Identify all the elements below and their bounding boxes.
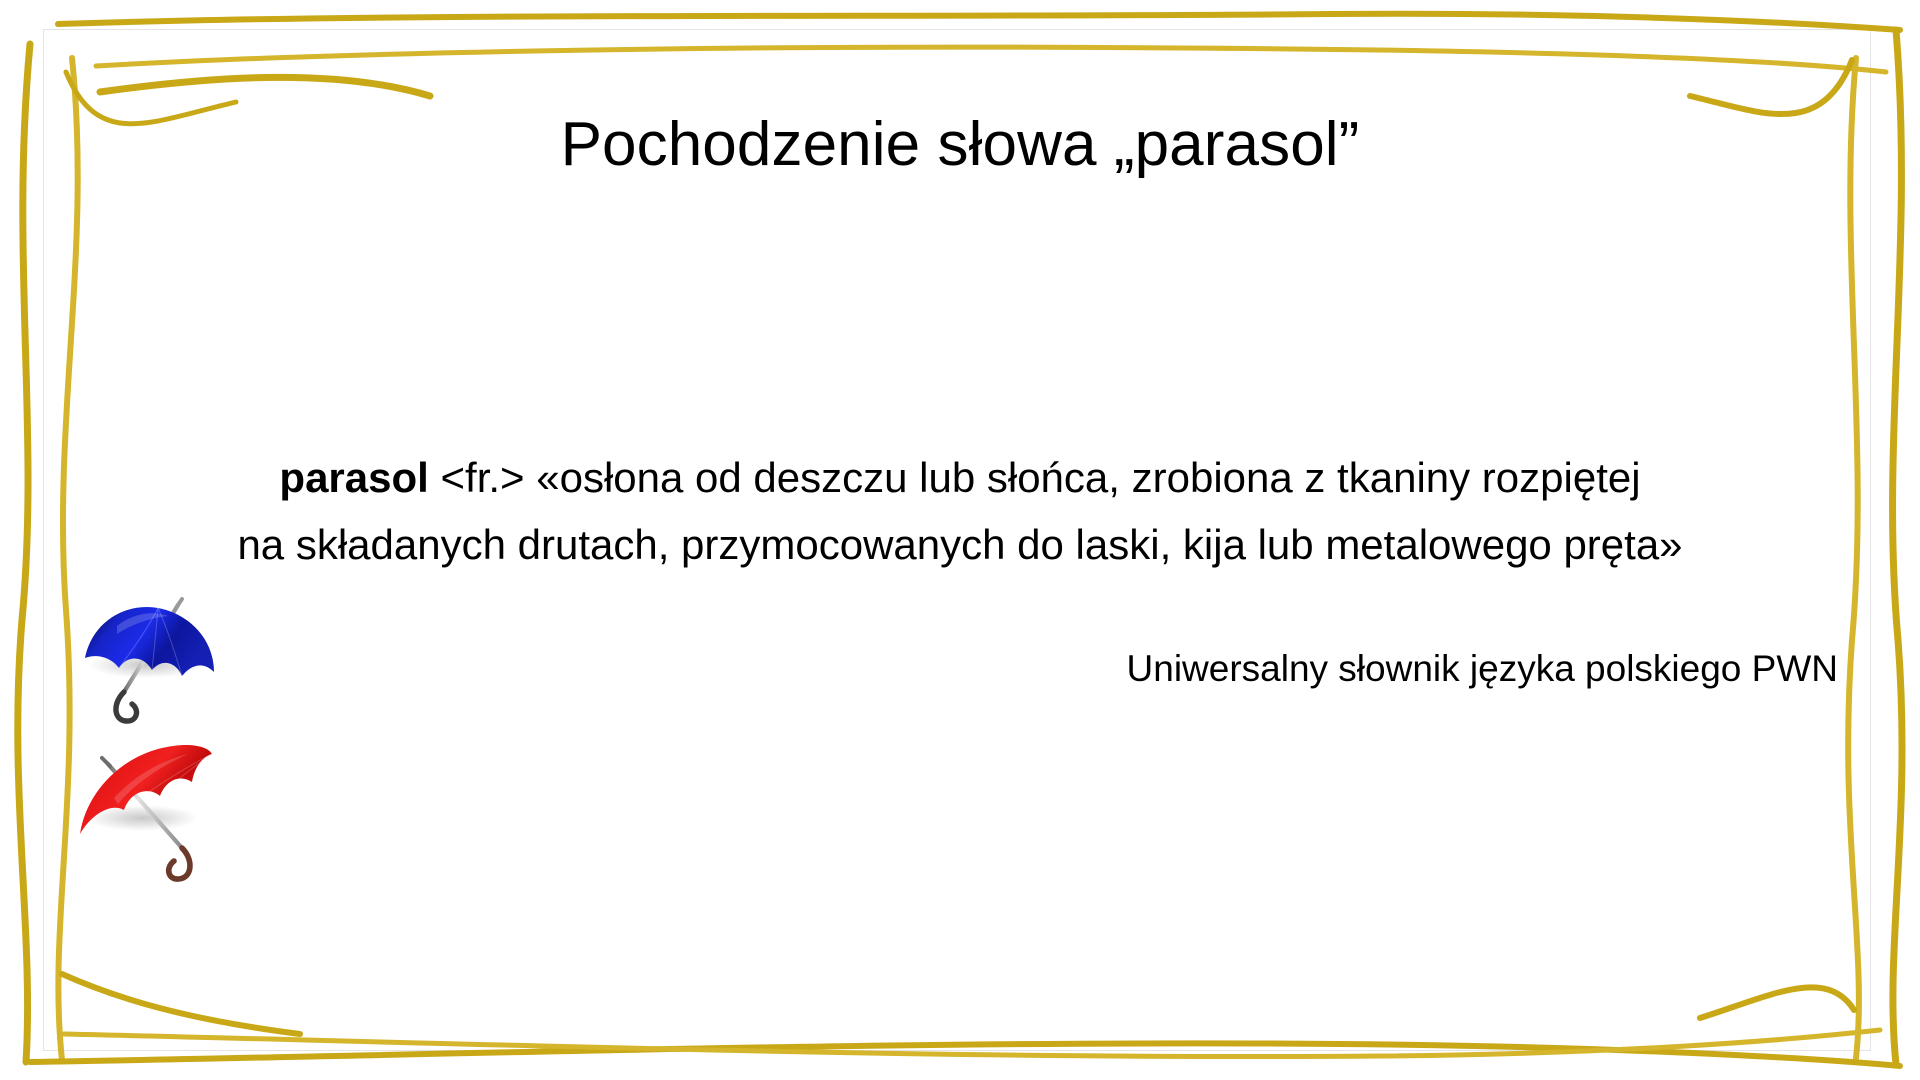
two-umbrellas-illustration: [62, 586, 242, 898]
definition-block: parasol <fr.> «osłona od deszczu lub sło…: [110, 444, 1810, 578]
definition-line-1-rest: «osłona od deszczu lub słońca, zrobiona …: [525, 454, 1641, 501]
definition-line-2: na składanych drutach, przymocowanych do…: [110, 511, 1810, 578]
slide: Pochodzenie słowa „parasol” parasol <fr.…: [0, 0, 1920, 1080]
page-title: Pochodzenie słowa „parasol”: [0, 112, 1920, 179]
definition-etymology-tag: [429, 454, 441, 501]
definition-lemma: parasol: [279, 454, 428, 501]
source-attribution: Uniwersalny słownik języka polskiego PWN: [1127, 647, 1838, 691]
definition-origin-tag: <fr.>: [441, 454, 525, 501]
definition-line-1: parasol <fr.> «osłona od deszczu lub sło…: [110, 444, 1810, 511]
